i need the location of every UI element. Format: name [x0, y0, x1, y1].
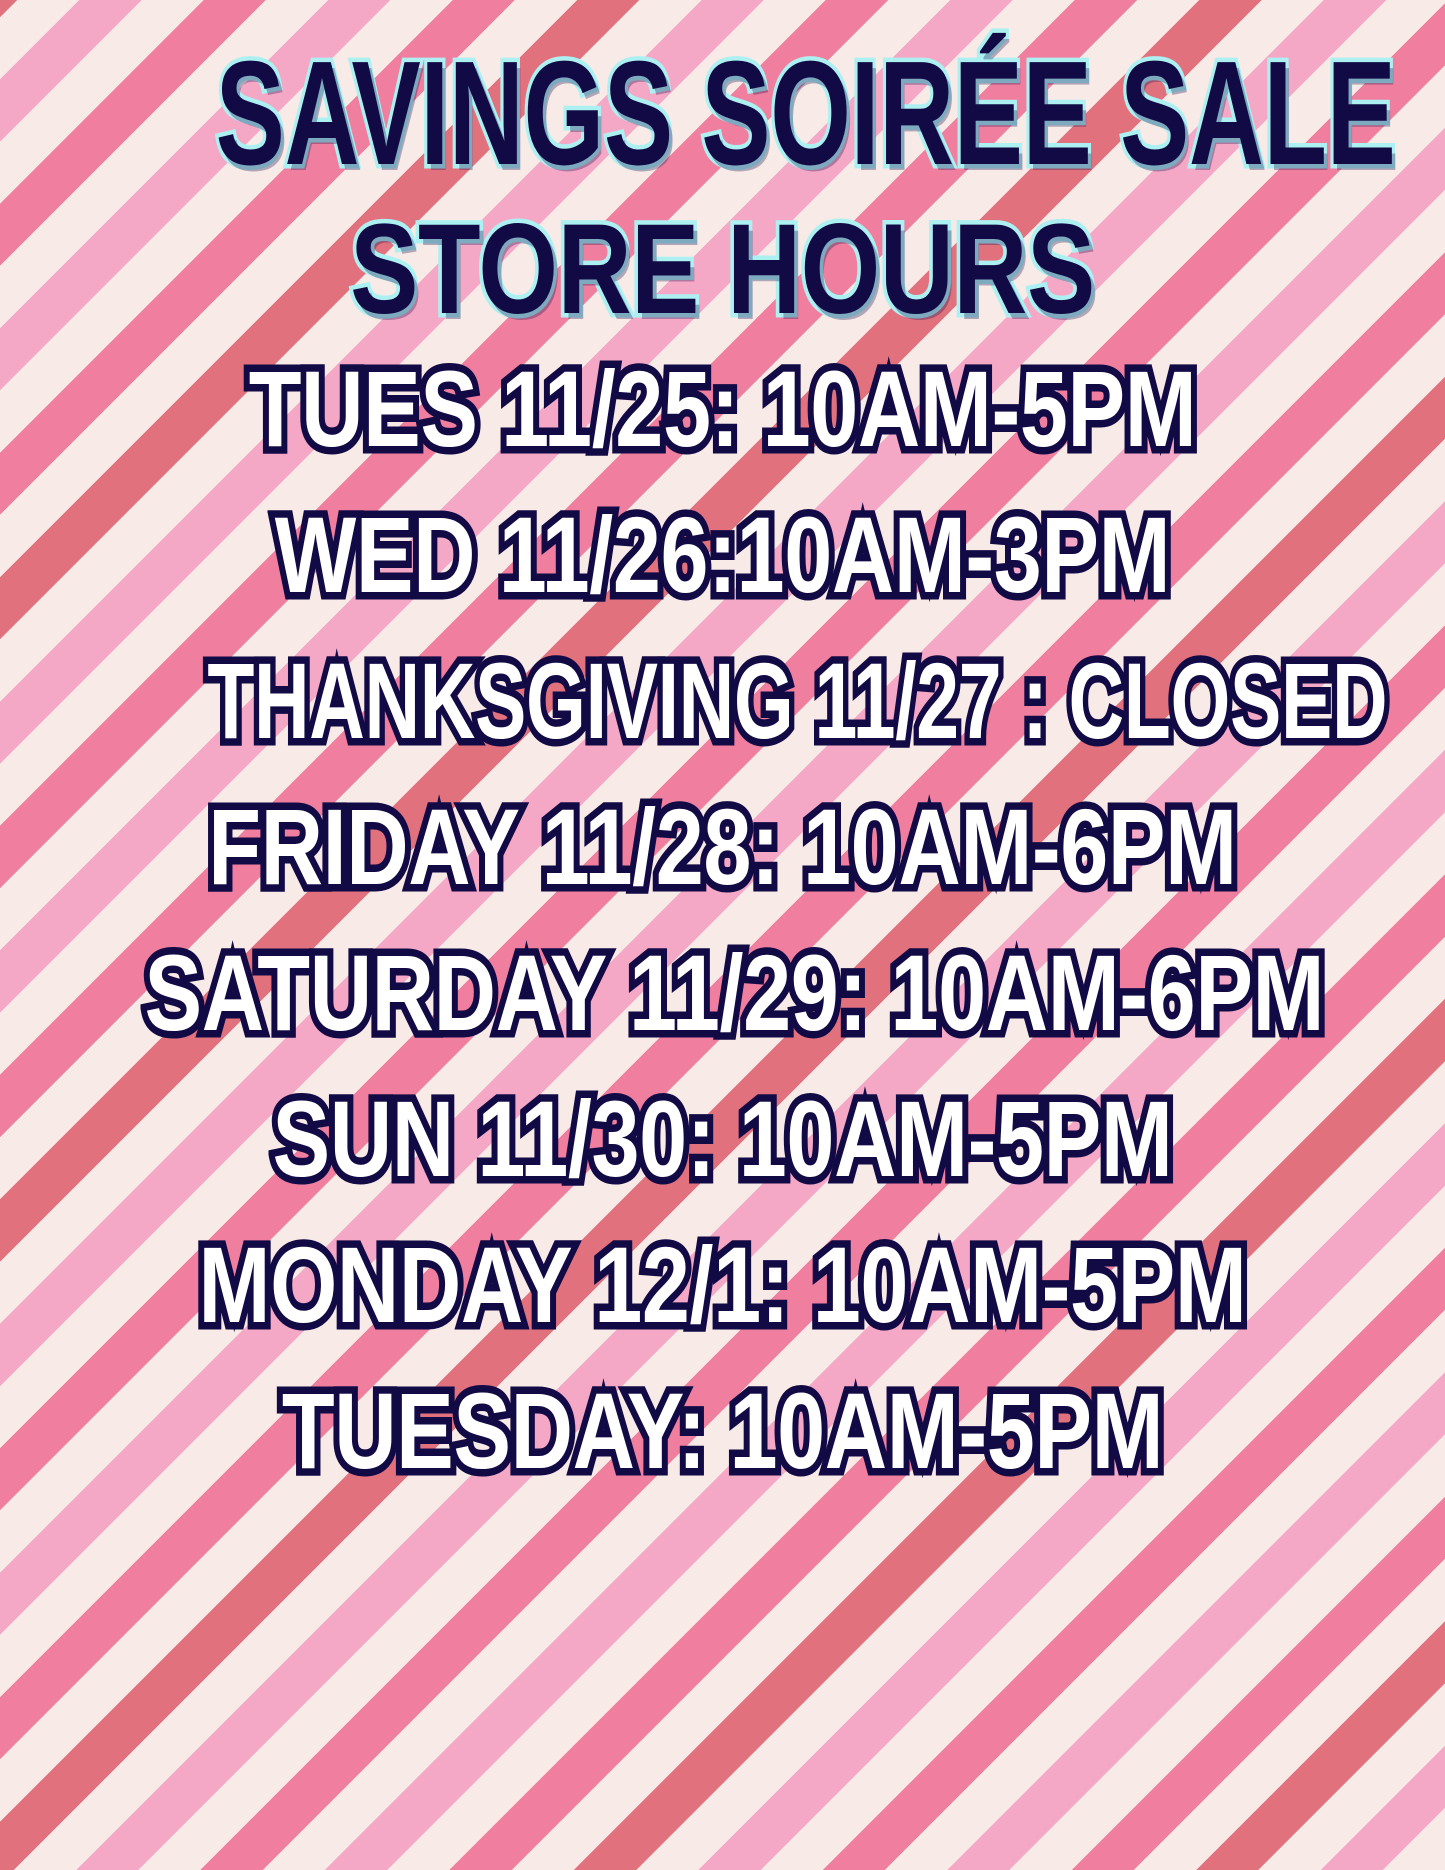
store-hours-list: TUES 11/25: 10AM-5PM WED 11/26:10AM-3PM …: [0, 336, 1445, 1504]
store-hours-row: SUN 11/30: 10AM-5PM: [145, 1066, 1301, 1212]
store-hours-subtitle: STORE HOURS: [145, 190, 1301, 336]
sale-poster: SAVINGS SOIRÉE SALE STORE HOURS TUES 11/…: [0, 0, 1445, 1870]
store-hours-row: MONDAY 12/1: 10AM-5PM: [145, 1212, 1301, 1358]
poster-content: SAVINGS SOIRÉE SALE STORE HOURS TUES 11/…: [0, 0, 1445, 1870]
store-hours-row: WED 11/26:10AM-3PM: [145, 482, 1301, 628]
store-hours-row: FRIDAY 11/28: 10AM-6PM: [145, 774, 1301, 920]
page-title: SAVINGS SOIRÉE SALE: [216, 0, 1230, 190]
store-hours-row: THANKSGIVING 11/27 : CLOSED: [207, 628, 1237, 774]
store-hours-row: SATURDAY 11/29: 10AM-6PM: [145, 920, 1301, 1066]
store-hours-row: TUESDAY: 10AM-5PM: [145, 1358, 1301, 1504]
store-hours-row: TUES 11/25: 10AM-5PM: [145, 336, 1301, 482]
